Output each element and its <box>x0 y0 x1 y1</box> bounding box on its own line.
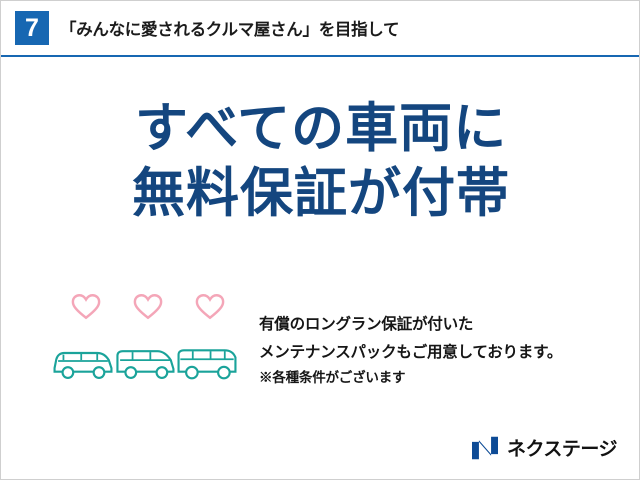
n-logo-icon <box>470 435 500 461</box>
description-note: ※各種条件がございます <box>259 366 629 390</box>
heart-icon <box>71 293 101 320</box>
brand-name: ネクステージ <box>507 434 617 461</box>
slide-header: 7 「みんなに愛されるクルマ屋さん」を目指して <box>1 1 640 57</box>
car-suv-icon <box>175 341 239 381</box>
middle-description: 有償のロングラン保証が付いた メンテナンスパックもご用意しております。 ※各種条… <box>259 311 629 390</box>
description-line-1: 有償のロングラン保証が付いた <box>259 311 629 339</box>
middle-section: 有償のロングラン保証が付いた メンテナンスパックもご用意しております。 ※各種条… <box>1 289 640 411</box>
description-line-2: メンテナンスパックもご用意しております。 <box>259 339 629 367</box>
heart-icon <box>133 293 163 320</box>
slide-header-title: 「みんなに愛されるクルマ屋さん」を目指して <box>60 16 399 40</box>
car-sedan-icon <box>51 341 115 381</box>
car-illustration-group <box>49 289 249 407</box>
brand-logo: ネクステージ <box>470 434 617 461</box>
headline-line-1: すべての車両に <box>1 97 640 162</box>
slide-number-badge: 7 <box>15 11 49 45</box>
heart-icon <box>195 293 225 320</box>
page-title: すべての車両に 無料保証が付帯 <box>1 97 640 226</box>
car-van-icon <box>113 341 177 381</box>
promo-slide: 7 「みんなに愛されるクルマ屋さん」を目指して すべての車両に 無料保証が付帯 <box>0 0 640 480</box>
headline-line-2: 無料保証が付帯 <box>1 162 640 227</box>
